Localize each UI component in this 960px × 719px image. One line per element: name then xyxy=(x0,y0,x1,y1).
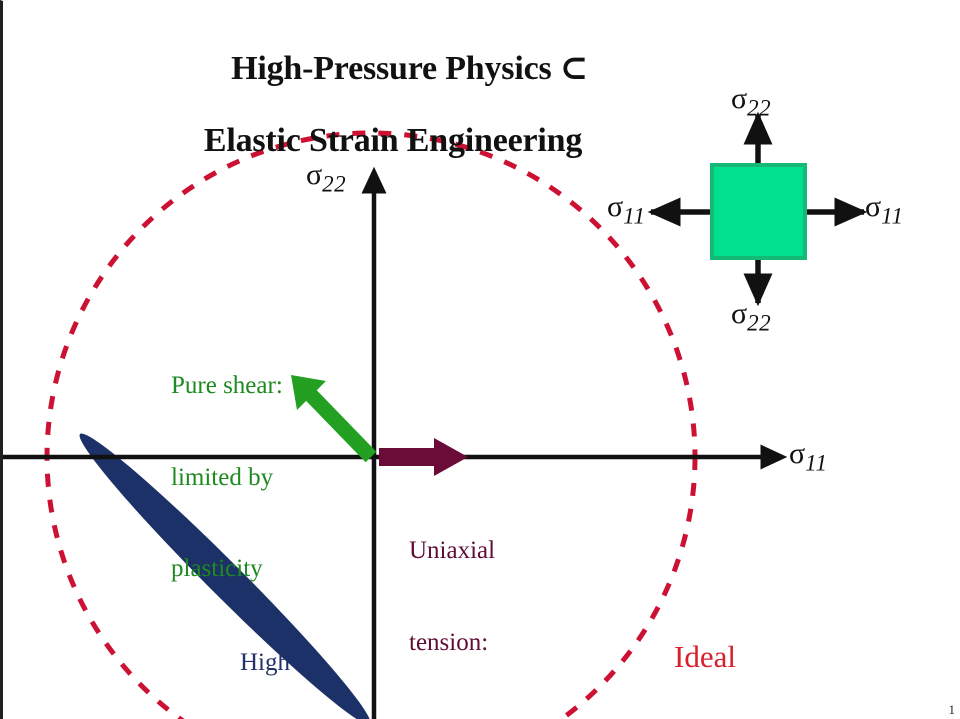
sigma-subscript: 22 xyxy=(322,171,346,196)
element-label-sigma22-bottom: σ22 xyxy=(731,298,771,336)
annotation-line: Ideal xyxy=(611,639,799,676)
sigma-glyph: σ xyxy=(731,82,747,115)
uniaxial-tension-arrow xyxy=(379,438,468,476)
title-line-2: Elastic Strain Engineering xyxy=(3,123,783,159)
annotation-uniaxial-tension: Uniaxial tension: limited by plasticity … xyxy=(409,475,528,719)
annotation-ideal-strength-limit: Ideal strength limit xyxy=(611,566,799,719)
sigma-glyph: σ xyxy=(789,437,805,470)
sigma-subscript: 11 xyxy=(805,450,827,475)
annotation-line: Uniaxial xyxy=(409,536,528,567)
sigma-subscript: 11 xyxy=(881,203,903,228)
sigma-glyph: σ xyxy=(306,158,322,191)
sigma-glyph: σ xyxy=(865,190,881,223)
sigma-glyph: σ xyxy=(607,190,623,223)
page-number: 1 xyxy=(949,703,956,717)
annotation-high-pressure-physics: High- pressure physics xyxy=(240,587,323,719)
element-label-sigma11-right: σ11 xyxy=(865,191,903,229)
annotation-line: tension: xyxy=(409,628,528,659)
axis-label-sigma11: σ11 xyxy=(789,438,827,476)
sigma-glyph: σ xyxy=(731,297,747,330)
page-title: High-Pressure Physics ⊂ Elastic Strain E… xyxy=(3,15,783,231)
sigma-subscript: 22 xyxy=(747,310,771,335)
annotation-line: plasticity xyxy=(171,554,283,585)
annotation-line: High- xyxy=(240,648,323,679)
annotation-line: limited by xyxy=(171,463,283,494)
axis-label-sigma22: σ22 xyxy=(306,159,346,197)
annotation-line: Pure shear: xyxy=(171,371,283,402)
element-label-sigma11-left: σ11 xyxy=(607,191,645,229)
sigma-subscript: 11 xyxy=(623,203,645,228)
title-line-1: High-Pressure Physics ⊂ xyxy=(231,50,588,87)
element-label-sigma22-top: σ22 xyxy=(731,83,771,121)
pure-shear-arrow xyxy=(291,375,371,457)
slide-canvas: High-Pressure Physics ⊂ Elastic Strain E… xyxy=(0,0,960,719)
sigma-subscript: 22 xyxy=(747,95,771,120)
